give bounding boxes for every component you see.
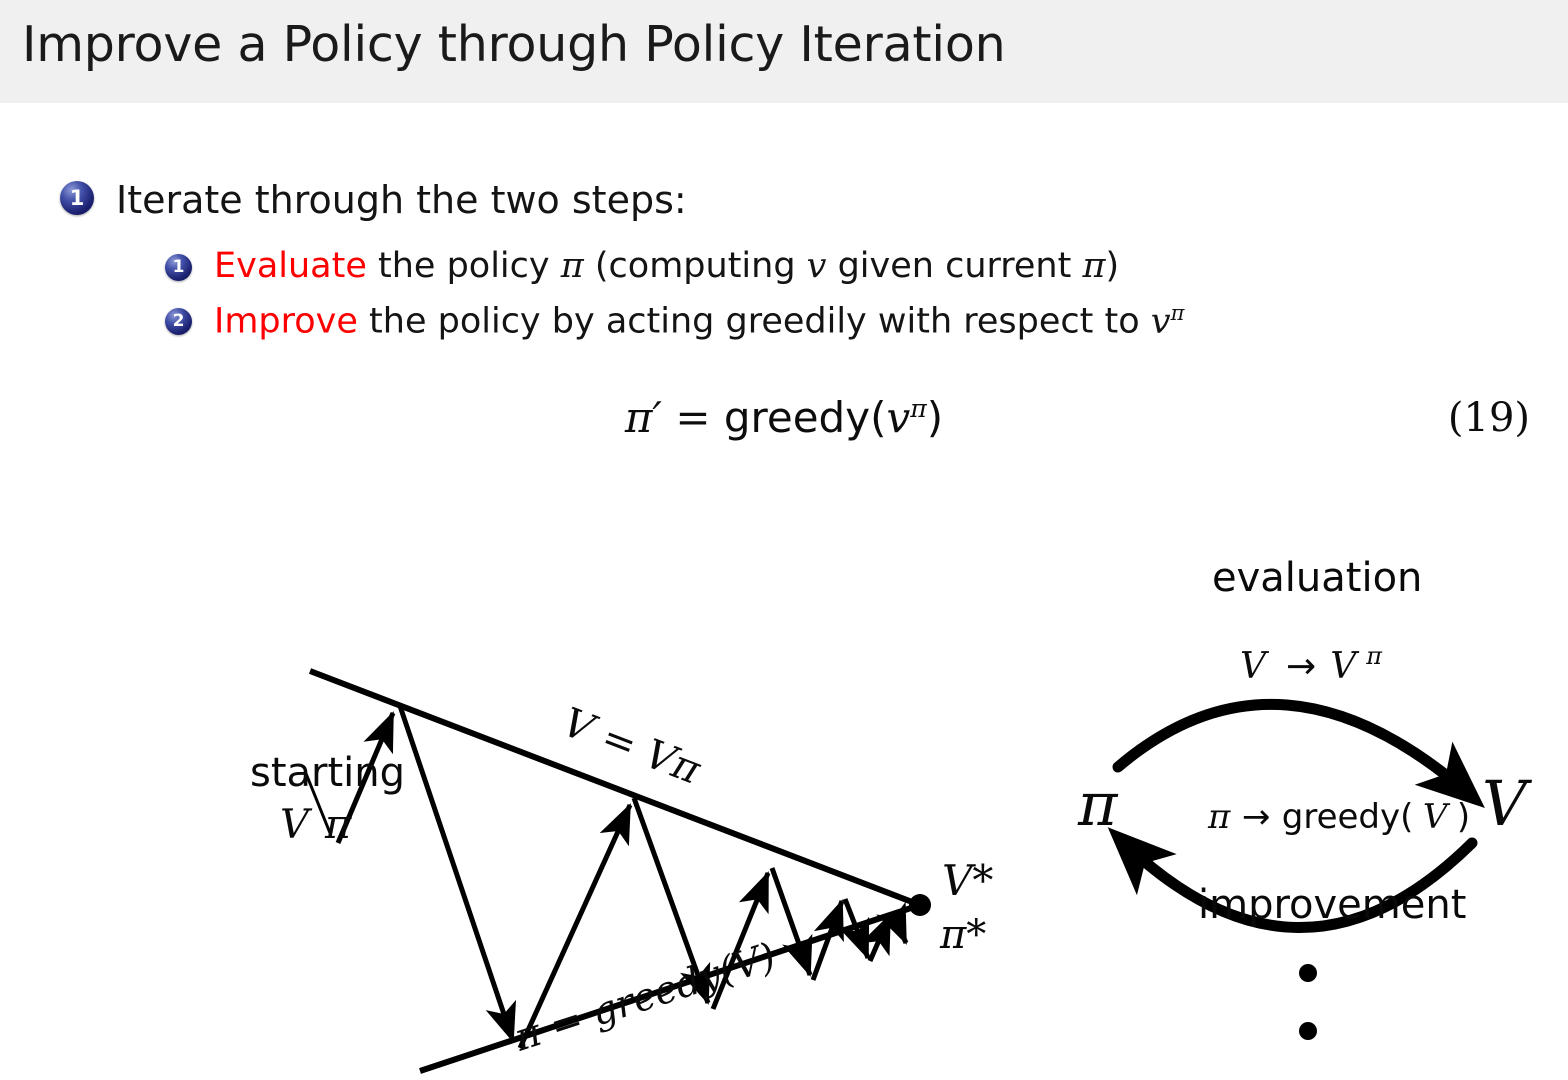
v-symbol: v: [886, 393, 910, 442]
optimal-point-dot: [909, 894, 931, 916]
vertical-dot-2: [1299, 1022, 1317, 1040]
label-starting: starting: [250, 750, 405, 796]
caption-evaluation: evaluation: [1212, 555, 1422, 601]
page-title: Improve a Policy through Policy Iteratio…: [22, 16, 1005, 73]
evaluate-text-c: given current: [826, 246, 1082, 286]
gpi-cycle-svg: evaluation improvement V → V π π → greed…: [1050, 543, 1550, 1043]
convergence-svg: V = Vπ π = greedy(V) starting V π V* π*: [230, 543, 1020, 1023]
arrow-down-3: [772, 868, 810, 975]
figure-convergence: V = Vπ π = greedy(V) starting V π V* π*: [230, 543, 1020, 1023]
keyword-evaluate: Evaluate: [214, 246, 367, 286]
label-eval-v1: V: [1240, 646, 1270, 687]
label-imp-close: ): [1457, 797, 1470, 837]
v-symbol: v: [1151, 302, 1171, 342]
label-eval-pi-sup: π: [1365, 642, 1383, 670]
label-imp-v: V: [1423, 797, 1451, 837]
caption-improvement: improvement: [1198, 882, 1466, 928]
equation-number: (19): [1448, 395, 1530, 441]
pi-symbol: π: [561, 246, 584, 286]
pi-superscript: π: [910, 394, 927, 423]
label-imp-arrow: →: [1242, 797, 1271, 837]
greedy-close: ): [927, 393, 943, 442]
label-imp-greedy: greedy(: [1282, 797, 1414, 837]
bullet-marker-icon: 1: [165, 254, 192, 281]
v-symbol: v: [807, 246, 827, 286]
evaluate-text-d: ): [1105, 246, 1119, 286]
bullet-marker-icon: 2: [165, 308, 192, 335]
label-lower-line: π = greedy(V): [508, 934, 781, 1060]
label-improvement-mapping: π → greedy( V ): [1207, 797, 1470, 837]
bullet-item-iterate: 1 Iterate through the two steps:: [60, 181, 687, 221]
label-starting-pi: π: [324, 802, 352, 848]
bullet-marker-icon: 1: [60, 181, 94, 215]
bullet-item-improve: 2 Improve the policy by acting greedily …: [165, 302, 1184, 340]
improve-text-a: the policy by acting greedily with respe…: [358, 302, 1151, 342]
evaluation-arc-arrow: [1118, 704, 1470, 795]
slide-header-bar: Improve a Policy through Policy Iteratio…: [0, 0, 1568, 103]
bullet-text: Improve the policy by acting greedily wi…: [214, 302, 1184, 340]
equation-policy-greedy: π′ = greedy(vπ): [0, 393, 1568, 442]
label-imp-pi: π: [1207, 797, 1231, 837]
equals-sign: =: [662, 393, 724, 442]
node-label-pi: π: [1077, 770, 1119, 840]
bullet-text: Iterate through the two steps:: [116, 181, 687, 221]
evaluate-text-b: (computing: [584, 246, 807, 286]
bullet-item-evaluate: 1 Evaluate the policy π (computing v giv…: [165, 248, 1119, 285]
pi-symbol: π: [1082, 246, 1105, 286]
evaluate-text-a: the policy: [367, 246, 561, 286]
label-upper-line: V = Vπ: [556, 699, 707, 793]
pi-prime-symbol: π′: [625, 393, 662, 442]
label-starting-v: V: [280, 802, 313, 848]
figure-gpi-cycle: evaluation improvement V → V π π → greed…: [1050, 543, 1550, 1043]
label-eval-arrow: →: [1286, 646, 1316, 687]
label-eval-v2: V: [1330, 646, 1360, 687]
label-optimal-v: V*: [942, 856, 993, 905]
arrow-down-1: [400, 706, 513, 1041]
slide-content: 1 Iterate through the two steps: 1 Evalu…: [0, 103, 1568, 1080]
label-optimal-pi: π*: [939, 912, 986, 958]
greedy-open: greedy(: [724, 393, 887, 442]
pi-superscript: π: [1171, 301, 1185, 325]
node-label-v: V: [1482, 767, 1533, 840]
label-evaluation-mapping: V → V π: [1240, 642, 1383, 687]
bullet-text: Evaluate the policy π (computing v given…: [214, 248, 1119, 285]
vertical-dot-1: [1299, 964, 1317, 982]
keyword-improve: Improve: [214, 302, 358, 342]
arrow-down-5: [893, 913, 906, 943]
